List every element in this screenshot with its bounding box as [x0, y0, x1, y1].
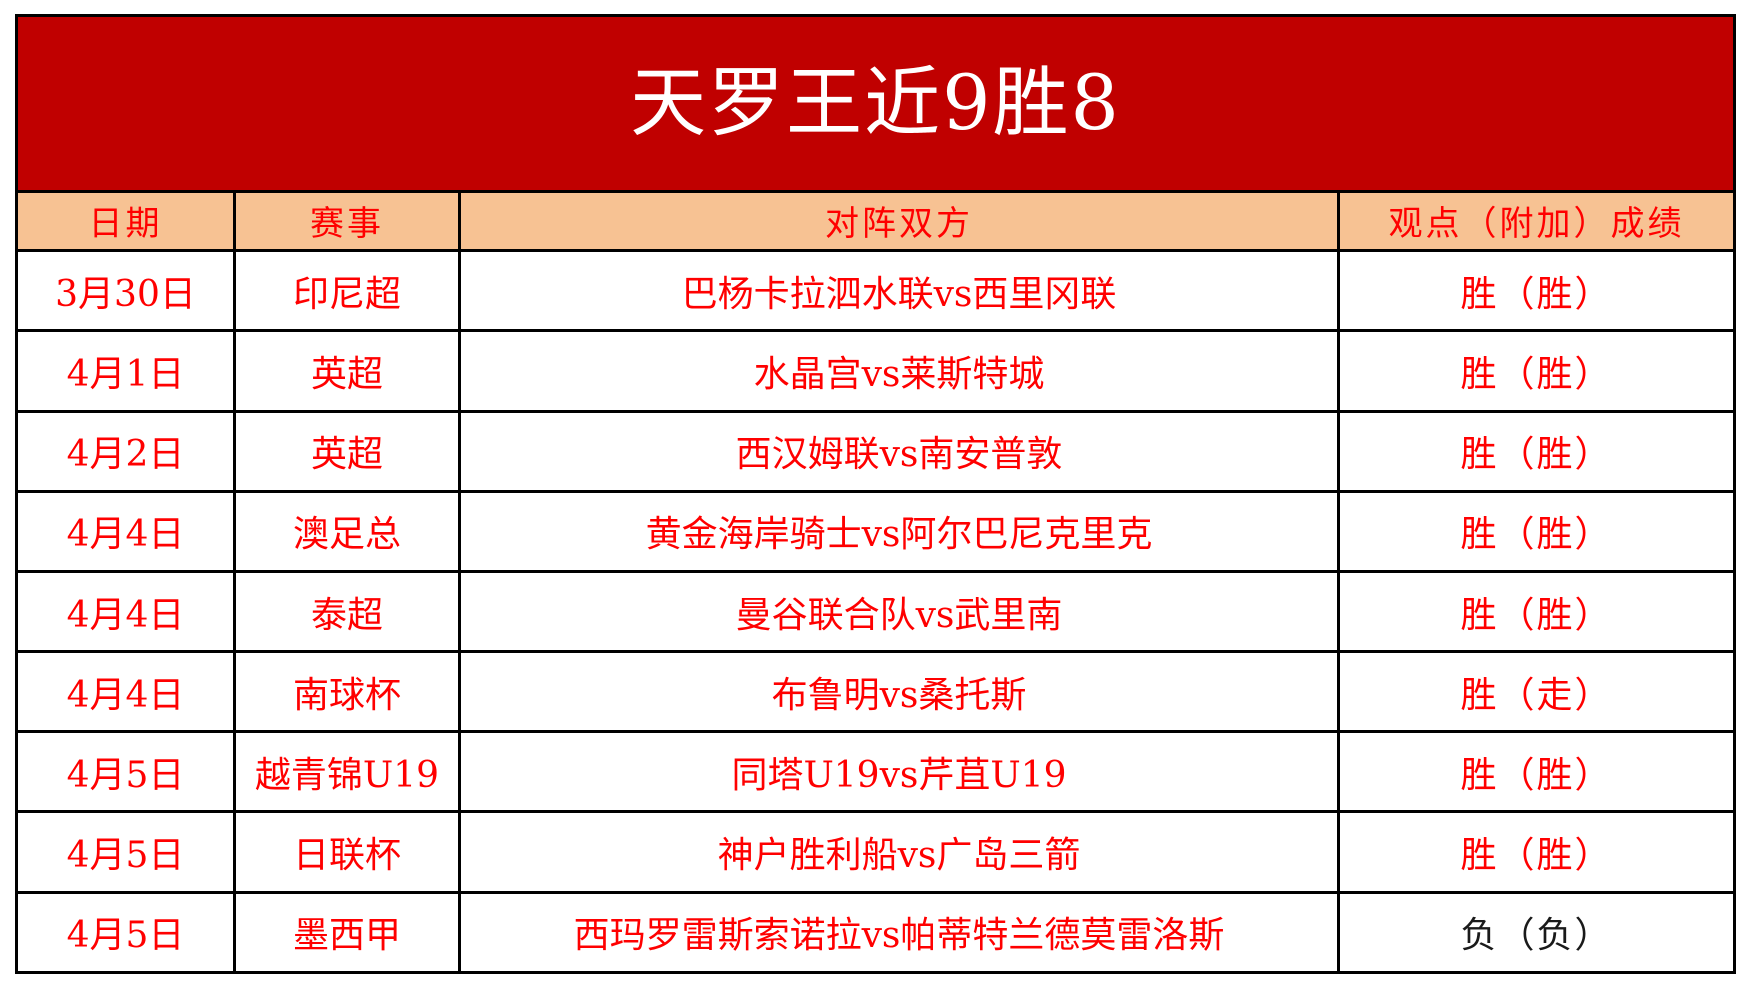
page-title: 天罗王近9胜8	[18, 65, 1733, 141]
record-sheet: 天罗王近9胜8 日期 赛事 对阵双方 观点（附加）成绩 3月30日印尼超巴杨卡拉…	[15, 14, 1733, 974]
table-row: 4月5日越青锦U19同塔U19vs芹苴U19胜（胜）	[17, 732, 1735, 812]
cell-result: 胜（胜）	[1339, 571, 1735, 651]
table-row: 4月5日日联杯神户胜利船vs广岛三箭胜（胜）	[17, 812, 1735, 892]
cell-result: 胜（胜）	[1339, 812, 1735, 892]
cell-match: 巴杨卡拉泗水联vs西里冈联	[460, 251, 1339, 331]
cell-league: 越青锦U19	[235, 732, 460, 812]
column-header-date: 日期	[17, 191, 235, 251]
cell-result: 胜（胜）	[1339, 491, 1735, 571]
cell-result: 胜（胜）	[1339, 411, 1735, 491]
table-body: 天罗王近9胜8 日期 赛事 对阵双方 观点（附加）成绩 3月30日印尼超巴杨卡拉…	[17, 16, 1735, 973]
cell-date: 4月5日	[17, 732, 235, 812]
table-row: 3月30日印尼超巴杨卡拉泗水联vs西里冈联胜（胜）	[17, 251, 1735, 331]
column-header-result: 观点（附加）成绩	[1339, 191, 1735, 251]
cell-match: 黄金海岸骑士vs阿尔巴尼克里克	[460, 491, 1339, 571]
table-row: 4月4日南球杯布鲁明vs桑托斯胜（走）	[17, 652, 1735, 732]
table-row: 4月4日澳足总黄金海岸骑士vs阿尔巴尼克里克胜（胜）	[17, 491, 1735, 571]
table-row: 4月5日墨西甲西玛罗雷斯索诺拉vs帕蒂特兰德莫雷洛斯负（负）	[17, 892, 1735, 972]
header-row: 日期 赛事 对阵双方 观点（附加）成绩	[17, 191, 1735, 251]
cell-league: 英超	[235, 331, 460, 411]
table-row: 4月4日泰超曼谷联合队vs武里南胜（胜）	[17, 571, 1735, 651]
table-row: 4月2日英超西汉姆联vs南安普敦胜（胜）	[17, 411, 1735, 491]
cell-date: 4月4日	[17, 652, 235, 732]
cell-result: 胜（胜）	[1339, 732, 1735, 812]
cell-league: 澳足总	[235, 491, 460, 571]
cell-date: 4月5日	[17, 892, 235, 972]
banner-row: 天罗王近9胜8	[17, 16, 1735, 192]
cell-match: 同塔U19vs芹苴U19	[460, 732, 1339, 812]
cell-date: 3月30日	[17, 251, 235, 331]
banner: 天罗王近9胜8	[17, 16, 1735, 192]
cell-result: 胜（胜）	[1339, 251, 1735, 331]
cell-result: 负（负）	[1339, 892, 1735, 972]
cell-league: 泰超	[235, 571, 460, 651]
cell-match: 西玛罗雷斯索诺拉vs帕蒂特兰德莫雷洛斯	[460, 892, 1339, 972]
column-header-match: 对阵双方	[460, 191, 1339, 251]
cell-league: 南球杯	[235, 652, 460, 732]
cell-date: 4月4日	[17, 491, 235, 571]
cell-match: 布鲁明vs桑托斯	[460, 652, 1339, 732]
cell-league: 日联杯	[235, 812, 460, 892]
cell-result: 胜（走）	[1339, 652, 1735, 732]
cell-league: 英超	[235, 411, 460, 491]
cell-date: 4月4日	[17, 571, 235, 651]
column-header-league: 赛事	[235, 191, 460, 251]
cell-match: 西汉姆联vs南安普敦	[460, 411, 1339, 491]
cell-match: 水晶宫vs莱斯特城	[460, 331, 1339, 411]
cell-league: 墨西甲	[235, 892, 460, 972]
cell-date: 4月2日	[17, 411, 235, 491]
cell-match: 神户胜利船vs广岛三箭	[460, 812, 1339, 892]
record-table: 天罗王近9胜8 日期 赛事 对阵双方 观点（附加）成绩 3月30日印尼超巴杨卡拉…	[15, 14, 1736, 974]
table-row: 4月1日英超水晶宫vs莱斯特城胜（胜）	[17, 331, 1735, 411]
cell-date: 4月5日	[17, 812, 235, 892]
cell-result: 胜（胜）	[1339, 331, 1735, 411]
cell-date: 4月1日	[17, 331, 235, 411]
cell-match: 曼谷联合队vs武里南	[460, 571, 1339, 651]
cell-league: 印尼超	[235, 251, 460, 331]
